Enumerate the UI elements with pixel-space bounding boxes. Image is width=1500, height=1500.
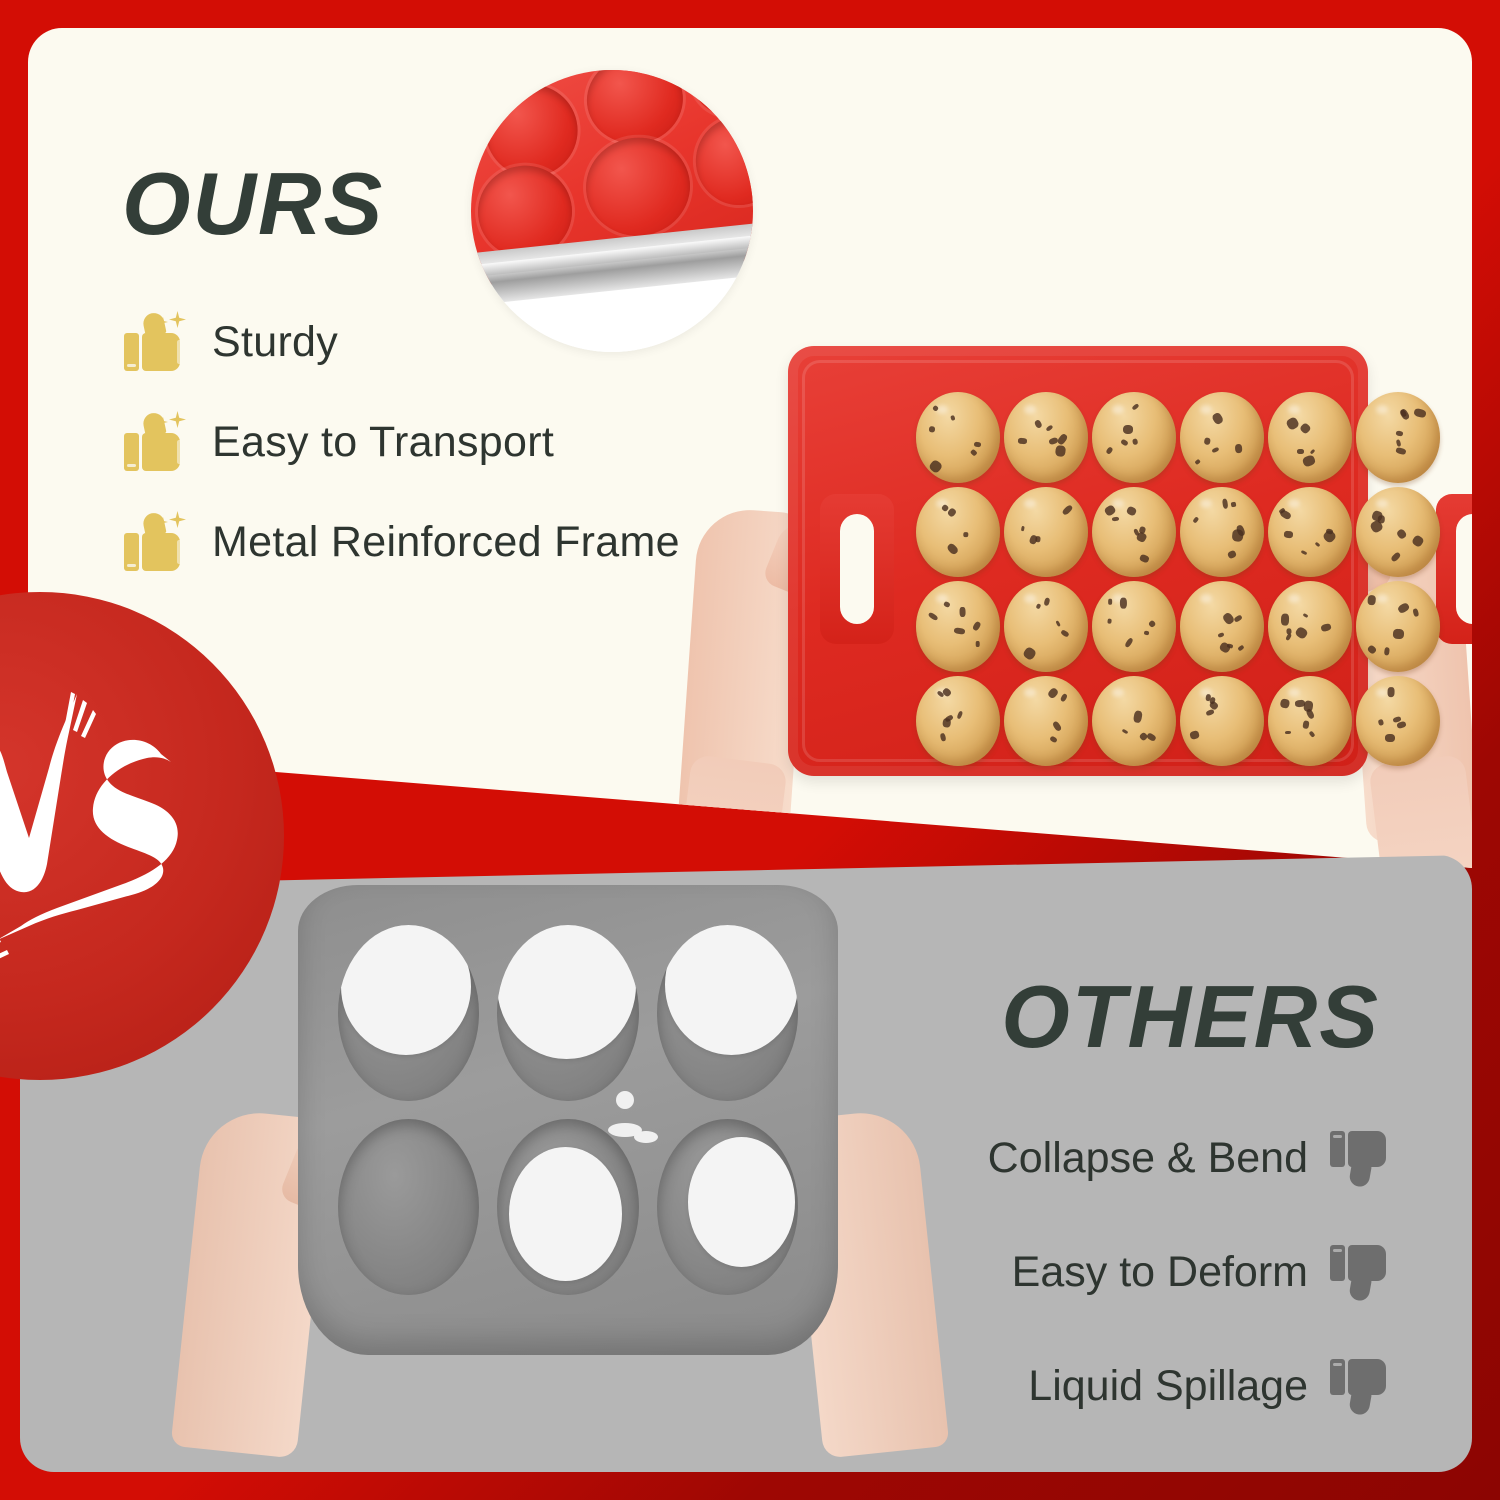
chocolate-chip — [1055, 621, 1061, 628]
chocolate-chip — [1384, 648, 1390, 656]
chocolate-chip — [1396, 439, 1402, 447]
thumbs-up-icon — [124, 311, 190, 373]
chocolate-chip — [1378, 719, 1384, 726]
chocolate-chip — [1036, 537, 1041, 543]
chocolate-chip — [1284, 531, 1293, 538]
muffin — [1180, 676, 1264, 767]
chocolate-chip — [1048, 436, 1059, 445]
chocolate-chip — [1055, 445, 1066, 457]
muffin — [1004, 392, 1088, 483]
chocolate-chip — [1192, 517, 1199, 524]
chocolate-chip — [1062, 504, 1074, 516]
chocolate-chip — [1231, 501, 1237, 507]
spilled-batter — [688, 1137, 795, 1267]
spilled-batter — [497, 925, 636, 1059]
chocolate-chip — [1295, 699, 1306, 706]
chocolate-chip — [1411, 534, 1424, 547]
chocolate-chip — [1396, 528, 1408, 540]
chocolate-chip — [1301, 454, 1315, 468]
chocolate-chip — [946, 543, 960, 557]
chocolate-chip — [950, 415, 956, 422]
chocolate-chip — [1108, 618, 1113, 624]
chocolate-chip — [1043, 597, 1050, 606]
chocolate-chip — [1385, 734, 1395, 742]
red-muffin-pan — [788, 346, 1368, 776]
chocolate-chip — [932, 405, 939, 412]
feature-label: Easy to Transport — [212, 418, 554, 467]
muffin — [1268, 487, 1352, 578]
chocolate-chip — [1387, 688, 1394, 698]
defect-item-collapse-and-bend: Collapse & Bend — [988, 1120, 1392, 1196]
chocolate-chip — [1120, 439, 1128, 447]
chocolate-chip — [954, 627, 965, 635]
chocolate-chip — [1309, 731, 1316, 738]
chocolate-chip — [1310, 449, 1316, 455]
chocolate-chip — [1281, 614, 1289, 626]
chocolate-chip — [1139, 553, 1149, 562]
muffin — [1268, 676, 1352, 767]
chocolate-chip — [1189, 730, 1200, 740]
chocolate-chip — [1204, 437, 1212, 445]
chocolate-chip — [1034, 419, 1044, 429]
chocolate-chip — [1314, 542, 1320, 548]
muffin — [1092, 581, 1176, 672]
muffin — [1180, 581, 1264, 672]
chocolate-chip — [1046, 686, 1059, 699]
chocolate-chip — [1148, 619, 1157, 628]
chocolate-chip — [1133, 710, 1143, 723]
chocolate-chip — [1124, 637, 1134, 648]
chocolate-chip — [1237, 644, 1244, 651]
chocolate-chip — [1396, 431, 1404, 437]
thumbs-down-icon — [1330, 1357, 1392, 1415]
chocolate-chip — [1221, 499, 1228, 510]
thumbs-up-icon — [124, 511, 190, 573]
chocolate-chip — [956, 711, 963, 720]
chocolate-chip — [1279, 698, 1289, 709]
feature-label: Metal Reinforced Frame — [212, 518, 680, 567]
chocolate-chip — [1108, 598, 1112, 604]
chocolate-chip — [1395, 447, 1406, 455]
chocolate-chip — [1393, 628, 1405, 638]
chocolate-chip — [1294, 626, 1309, 641]
feature-item-easy-to-transport: Easy to Transport — [124, 400, 680, 484]
chocolate-chip — [1143, 630, 1149, 635]
chocolate-chip — [964, 531, 969, 537]
chocolate-chip — [1397, 602, 1411, 614]
chocolate-chip — [1396, 721, 1406, 729]
product-detail-inset-image — [471, 70, 753, 352]
muffin-grid — [916, 392, 1440, 766]
chocolate-chip — [1105, 446, 1113, 455]
chocolate-chip — [1302, 721, 1309, 729]
muffin — [1180, 392, 1264, 483]
chocolate-chip — [1413, 407, 1426, 418]
chocolate-chip — [1121, 597, 1128, 608]
defect-label: Liquid Spillage — [1028, 1362, 1308, 1411]
muffin — [1004, 676, 1088, 767]
chocolate-chip — [1049, 736, 1058, 744]
mould-cavity — [338, 925, 479, 1101]
chocolate-chip — [1285, 416, 1300, 431]
muffin — [1356, 676, 1440, 767]
chocolate-chip — [1297, 449, 1304, 454]
chocolate-chip — [1279, 509, 1292, 521]
spilled-batter — [341, 925, 471, 1055]
chocolate-chip — [1036, 603, 1042, 610]
chocolate-chip — [1018, 437, 1027, 443]
thumbs-down-icon — [1330, 1243, 1392, 1301]
chocolate-chip — [1321, 528, 1337, 544]
chocolate-chip — [1195, 459, 1201, 465]
defect-label: Collapse & Bend — [988, 1134, 1308, 1183]
chocolate-chip — [1021, 525, 1025, 531]
chocolate-chip — [972, 620, 982, 631]
muffin — [1092, 392, 1176, 483]
chocolate-chip — [1413, 608, 1420, 617]
spilled-batter — [509, 1147, 622, 1281]
chocolate-chip — [1059, 692, 1068, 702]
chocolate-chip — [1123, 425, 1134, 435]
others-defect-list: Collapse & Bend Easy to Deform Liquid Sp… — [988, 1120, 1392, 1462]
chocolate-chip — [1205, 709, 1215, 716]
chocolate-chip — [960, 607, 966, 617]
chocolate-chip — [1103, 503, 1116, 516]
others-product-photo — [180, 865, 940, 1465]
mould-cavity — [497, 1119, 638, 1295]
muffin — [1356, 392, 1440, 483]
muffin — [1180, 487, 1264, 578]
chocolate-chip — [1125, 505, 1136, 516]
chocolate-chip — [1122, 728, 1129, 734]
chocolate-chip — [970, 449, 977, 456]
mould-cavity — [497, 925, 638, 1101]
chocolate-chip — [1060, 629, 1069, 637]
chocolate-chip — [928, 611, 940, 621]
muffin — [1004, 581, 1088, 672]
muffin — [916, 581, 1000, 672]
pan-handle-left — [820, 494, 894, 644]
muffin — [916, 487, 1000, 578]
chocolate-chip — [1131, 439, 1138, 446]
feature-item-metal-reinforced-frame: Metal Reinforced Frame — [124, 500, 680, 584]
chocolate-chip — [940, 733, 947, 742]
chocolate-chip — [929, 426, 936, 433]
pan-handle-right — [1436, 494, 1472, 644]
chocolate-chip — [1021, 645, 1036, 660]
ours-title: OURS — [122, 160, 384, 248]
chocolate-chip — [1211, 412, 1225, 426]
chocolate-chip — [1234, 444, 1242, 454]
muffin — [1356, 487, 1440, 578]
muffin — [1356, 581, 1440, 672]
chocolate-chip — [1046, 424, 1054, 432]
others-title: OTHERS — [1001, 973, 1380, 1061]
muffin — [916, 392, 1000, 483]
muffin — [1092, 676, 1176, 767]
chocolate-chip — [1132, 403, 1140, 410]
defect-item-easy-to-deform: Easy to Deform — [988, 1234, 1392, 1310]
vs-brush-lettering — [0, 688, 237, 988]
chocolate-chip — [1299, 422, 1311, 434]
chocolate-chip — [946, 508, 956, 519]
chocolate-chip — [1366, 644, 1376, 654]
mould-cavity — [657, 1119, 798, 1295]
chocolate-chip — [1212, 447, 1220, 454]
mould-cavity-grid — [338, 925, 798, 1295]
chocolate-chip — [1051, 720, 1062, 732]
muffin — [1004, 487, 1088, 578]
chocolate-chip — [1302, 613, 1308, 618]
chocolate-chip — [1217, 632, 1224, 638]
grey-silicone-mould — [298, 885, 838, 1355]
chocolate-chip — [1287, 628, 1292, 634]
muffin — [1092, 487, 1176, 578]
muffin — [916, 676, 1000, 767]
chocolate-chip — [1232, 529, 1245, 542]
chocolate-chip — [1321, 623, 1333, 632]
chocolate-chip — [1285, 730, 1292, 734]
chocolate-chip — [1234, 614, 1244, 622]
chocolate-chip — [974, 442, 982, 448]
muffin — [1268, 392, 1352, 483]
defect-item-liquid-spillage: Liquid Spillage — [988, 1348, 1392, 1424]
chocolate-chip — [1301, 550, 1307, 555]
chocolate-chip — [1227, 550, 1237, 560]
chocolate-chip — [1112, 517, 1120, 522]
ours-product-photo — [688, 328, 1448, 848]
feature-label: Sturdy — [212, 318, 338, 367]
mould-cavity — [657, 925, 798, 1101]
defect-label: Easy to Deform — [1012, 1248, 1308, 1297]
chocolate-chip — [976, 641, 980, 647]
thumbs-up-icon — [124, 411, 190, 473]
spilled-batter — [665, 925, 798, 1055]
chocolate-chip — [1368, 595, 1377, 606]
chocolate-chip — [1390, 552, 1401, 563]
chocolate-chip — [943, 601, 951, 608]
muffin — [1268, 581, 1352, 672]
chocolate-chip — [928, 458, 943, 473]
thumbs-down-icon — [1330, 1129, 1392, 1187]
mould-cavity — [338, 1119, 479, 1295]
